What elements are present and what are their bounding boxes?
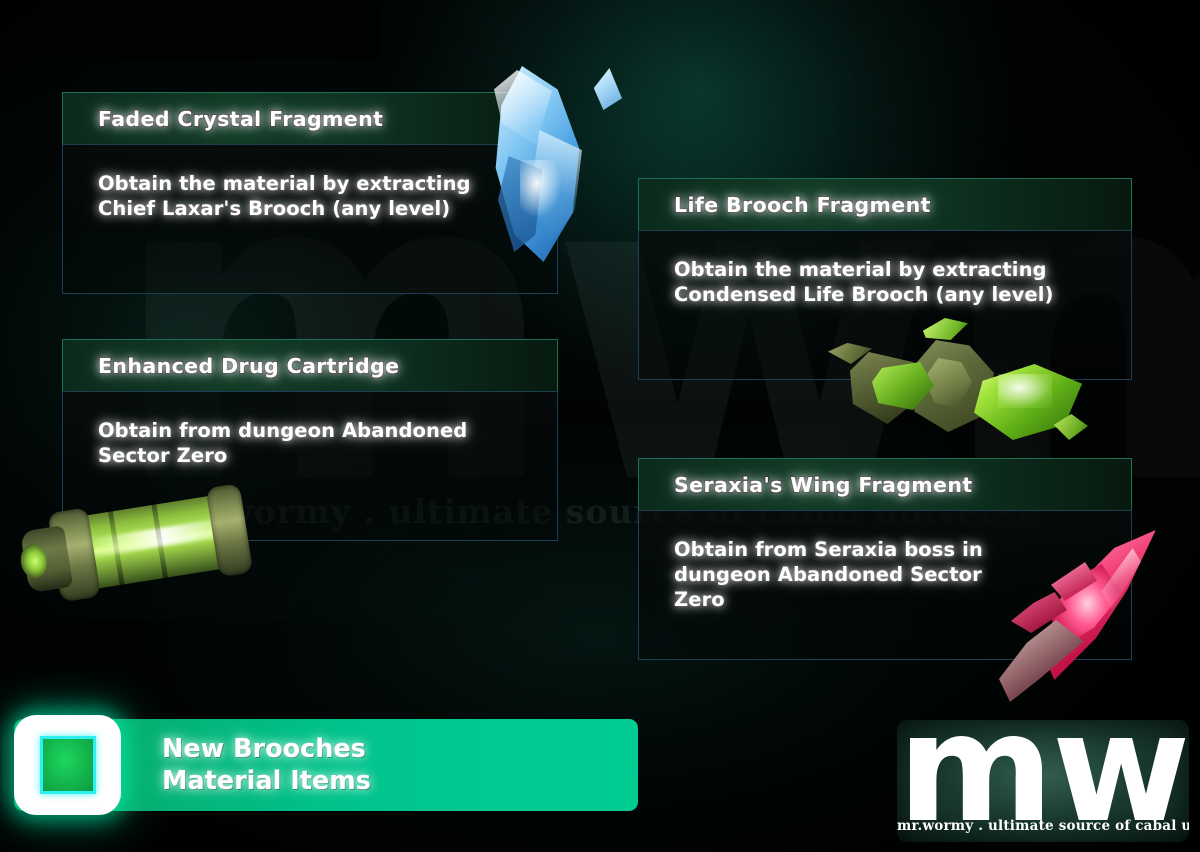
item-card-header: Enhanced Drug Cartridge xyxy=(62,339,558,391)
item-card-faded-crystal-fragment[interactable]: Faded Crystal Fragment Obtain the materi… xyxy=(62,92,558,294)
item-card-header: Life Brooch Fragment xyxy=(638,178,1132,230)
item-card-life-brooch-fragment[interactable]: Life Brooch Fragment Obtain the material… xyxy=(638,178,1132,380)
mw-logo-box: mw mr.wormy . ultimate source of cabal u… xyxy=(897,720,1189,842)
mw-logo-tagline: mr.wormy . ultimate source of cabal univ… xyxy=(897,818,1189,834)
item-card-header: Seraxia's Wing Fragment xyxy=(638,458,1132,510)
green-square-badge-icon xyxy=(14,715,121,815)
cartridge-nozzle xyxy=(18,542,49,580)
item-card-body: Obtain from Seraxia boss in dungeon Aban… xyxy=(638,510,1132,660)
item-description: Obtain the material by extracting Conden… xyxy=(639,231,1131,307)
item-description: Obtain from Seraxia boss in dungeon Aban… xyxy=(639,511,1131,612)
item-title: Seraxia's Wing Fragment xyxy=(639,473,973,497)
poster-canvas: mw mw mr.wormy . ultimate source of caba… xyxy=(0,0,1200,852)
item-card-body: Obtain the material by extracting Conden… xyxy=(638,230,1132,380)
item-title: Enhanced Drug Cartridge xyxy=(63,354,399,378)
item-card-body: Obtain from dungeon Abandoned Sector Zer… xyxy=(62,391,558,541)
item-title: Life Brooch Fragment xyxy=(639,193,931,217)
item-card-enhanced-drug-cartridge[interactable]: Enhanced Drug Cartridge Obtain from dung… xyxy=(62,339,558,541)
item-card-seraxias-wing-fragment[interactable]: Seraxia's Wing Fragment Obtain from Sera… xyxy=(638,458,1132,660)
item-card-body: Obtain the material by extracting Chief … xyxy=(62,144,558,294)
title-banner: New Brooches Material Items xyxy=(14,719,638,811)
banner-title: New Brooches Material Items xyxy=(162,733,371,797)
item-card-header: Faded Crystal Fragment xyxy=(62,92,558,144)
item-title: Faded Crystal Fragment xyxy=(63,107,383,131)
crystal-shard xyxy=(592,68,622,110)
item-description: Obtain from dungeon Abandoned Sector Zer… xyxy=(63,392,557,468)
brooch-fragment xyxy=(1050,414,1088,440)
badge-inner-square xyxy=(40,736,96,794)
item-description: Obtain the material by extracting Chief … xyxy=(63,145,557,221)
